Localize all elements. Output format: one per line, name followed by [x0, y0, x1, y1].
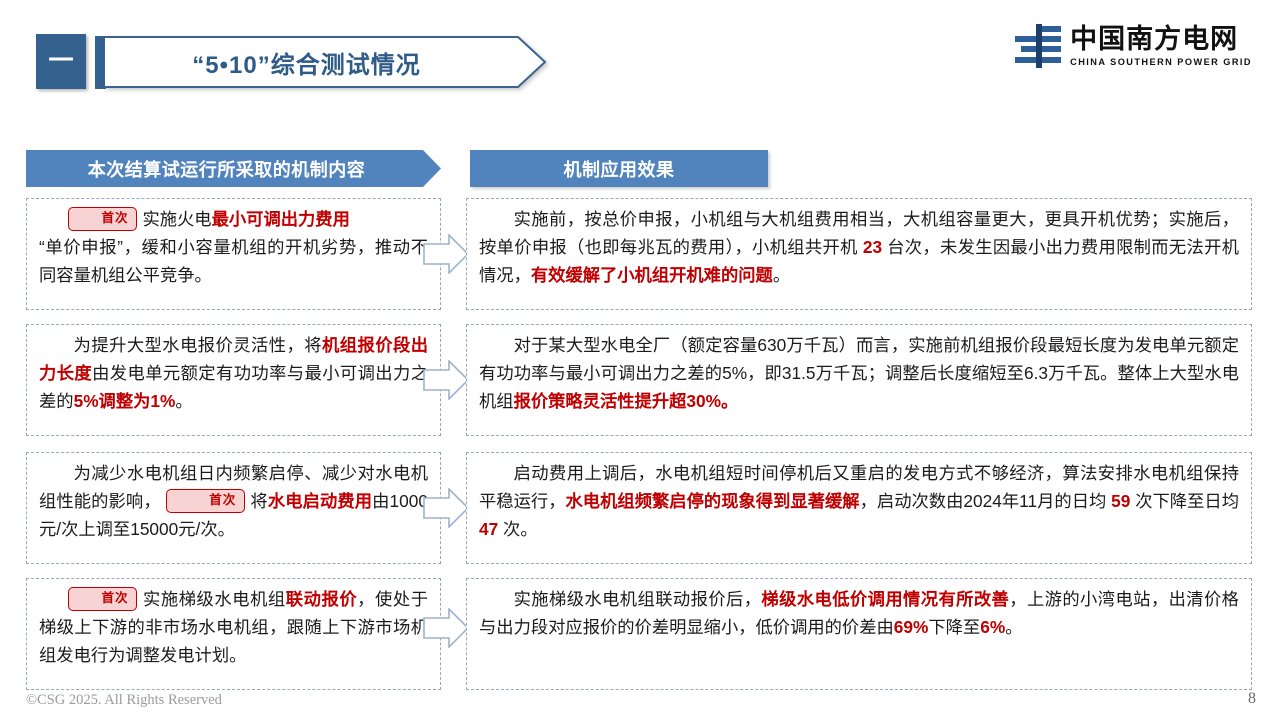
column-header-effect: 机制应用效果 — [470, 150, 768, 187]
row-2-connector-arrow — [423, 360, 469, 400]
row1-left-highlight-1: 最小可调出力费用 — [212, 209, 350, 229]
table-row-4-effect-cell: 实施梯级水电机组联动报价后，梯级水电低价调用情况有所改善，上游的小湾电站，出清价… — [466, 578, 1252, 690]
row3-right-highlight-1: 水电机组频繁启停的现象得到显著缓解 — [566, 491, 860, 511]
brand-logo: 中国南方电网 CHINA SOUTHERN POWER GRID — [1015, 24, 1252, 68]
southern-power-grid-mark-icon — [1015, 24, 1061, 68]
row2-right-highlight-1: 报价策略灵活性提升超30%。 — [514, 391, 739, 411]
row3-left-highlight-1: 水电启动费用 — [268, 491, 372, 511]
row4-right-highlight-1: 梯级水电低价调用情况有所改善 — [761, 589, 1009, 609]
row3-right-text-2: ，启动次数由2024年11月的日均 — [860, 491, 1112, 511]
table-row-4-mechanism-cell: 首次实施梯级水电机组联动报价，使处于梯级上下游的非市场水电机组，跟随上下游市场机… — [26, 578, 441, 690]
row2-left-text-3: 。 — [175, 391, 192, 411]
row3-left-text-2: 将 — [250, 491, 268, 511]
row-1-connector-arrow — [423, 234, 469, 274]
row4-right-highlight-2: 69% — [894, 617, 929, 637]
row2-left-highlight-2: 5%调整为1% — [74, 391, 176, 411]
row4-right-text-3: 下降至 — [928, 617, 980, 637]
brand-text: 中国南方电网 CHINA SOUTHERN POWER GRID — [1070, 26, 1252, 67]
section-number-badge: 一 — [36, 34, 86, 89]
table-row-1-effect-cell: 实施前，按总价申报，小机组与大机组费用相当，大机组容量更大，更具开机优势；实施后… — [466, 198, 1252, 310]
page-number: 8 — [1248, 690, 1256, 708]
row1-right-highlight-1: 有效缓解了小机组开机难的问题 — [531, 265, 773, 285]
row4-right-text-4: 。 — [1005, 617, 1022, 637]
page-title: “5•10”综合测试情况 — [104, 36, 509, 88]
first-time-badge: 首次 — [68, 587, 137, 611]
brand-name-cn: 中国南方电网 — [1070, 26, 1252, 53]
footer-copyright: ©CSG 2025. All Rights Reserved — [26, 692, 222, 709]
row1-right-text-3: 。 — [773, 265, 790, 285]
first-time-badge: 首次 — [166, 489, 246, 513]
table-row-1-mechanism-cell: 首次实施火电最小可调出力费用 “单价申报”，缓和小容量机组的开机劣势，推动不同容… — [26, 198, 441, 310]
row4-right-text-1: 实施梯级水电机组联动报价后， — [514, 589, 762, 609]
row2-left-text-1: 为提升大型水电报价灵活性，将 — [74, 335, 322, 355]
row1-left-text-2: “单价申报”，缓和小容量机组的开机劣势，推动不同容量机组公平竞争。 — [39, 233, 428, 289]
slide-header: 一 “5•10”综合测试情况 中国南方电网 CHINA SOUTHERN POW… — [0, 0, 1280, 110]
row4-right-highlight-3: 6% — [980, 617, 1005, 637]
row1-left-text-1: 实施火电 — [142, 209, 211, 229]
row3-right-text-4: 次。 — [498, 519, 537, 539]
table-row-3-effect-cell: 启动费用上调后，水电机组短时间停机后又重启的发电方式不够经济，算法安排水电机组保… — [466, 452, 1252, 564]
row3-right-number-2: 47 — [479, 519, 498, 539]
section-number-label: 一 — [48, 49, 73, 74]
row3-right-text-3: 次下降至日均 — [1130, 491, 1239, 511]
row4-left-text-1: 实施梯级水电机组 — [142, 589, 285, 609]
brand-name-en: CHINA SOUTHERN POWER GRID — [1070, 57, 1252, 67]
table-row-3-mechanism-cell: 为减少水电机组日内频繁启停、减少对水电机组性能的影响，首次将水电启动费用由100… — [26, 452, 441, 564]
table-row-2-mechanism-cell: 为提升大型水电报价灵活性，将机组报价段出力长度由发电单元额定有功功率与最小可调出… — [26, 324, 441, 436]
first-time-badge: 首次 — [68, 207, 137, 231]
row-4-connector-arrow — [423, 608, 469, 648]
row4-left-highlight-1: 联动报价 — [286, 589, 357, 609]
row1-right-number-1: 23 — [863, 237, 882, 257]
column-header-mechanism: 本次结算试运行所采取的机制内容 — [26, 150, 441, 187]
row3-right-number-1: 59 — [1111, 491, 1130, 511]
table-row-2-effect-cell: 对于某大型水电全厂（额定容量630万千瓦）而言，实施前机组报价段最短长度为发电单… — [466, 324, 1252, 436]
row-3-connector-arrow — [423, 488, 469, 528]
